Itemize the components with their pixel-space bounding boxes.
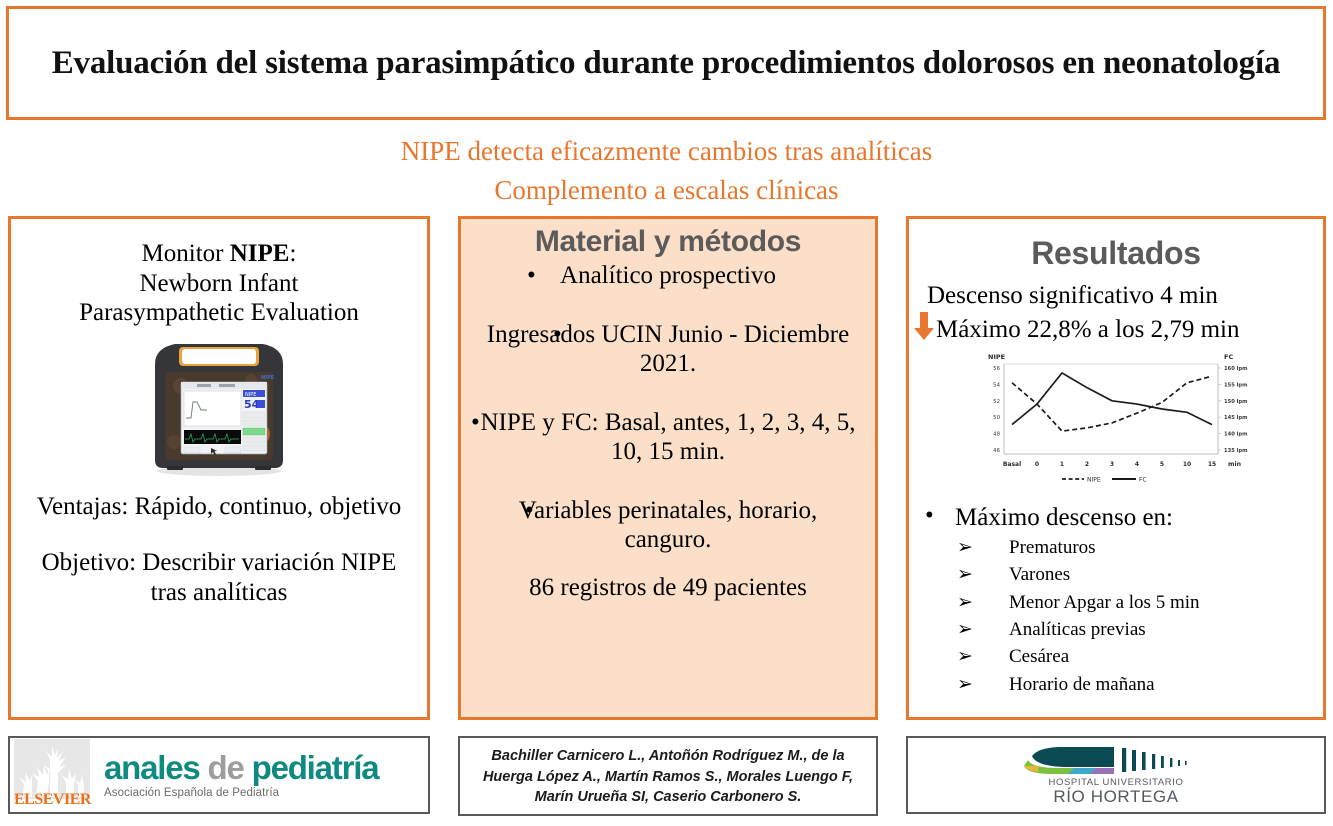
bullet-glyph: • <box>525 496 534 525</box>
list-item: • NIPE y FC: Basal, antes, 1, 2, 3, 4, 5… <box>461 408 875 466</box>
footer-journal-logos: ELSEVIER anales de pediatría Asociación … <box>8 736 430 814</box>
chart-series-nipe <box>1012 376 1212 431</box>
chart-legend-label-fc: FC <box>1139 477 1147 484</box>
list-item: ➢ Prematuros <box>909 534 1323 561</box>
list-item-label: Menor Apgar a los 5 min <box>1009 592 1200 613</box>
result-line-2: Máximo 22,8% a los 2,79 min <box>936 316 1239 343</box>
subtitle-block: NIPE detecta eficazmente cambios tras an… <box>0 132 1333 210</box>
list-item-label: Prematuros <box>1009 537 1096 558</box>
arrowhead-bullet-icon: ➢ <box>957 589 973 616</box>
svg-text:140 lpm: 140 lpm <box>1224 432 1248 438</box>
arrow-down-svg <box>913 311 935 341</box>
arrowhead-bullet-icon: ➢ <box>957 616 973 643</box>
footer-hospital-logo: HOSPITAL UNIVERSITARIO RÍO HORTEGA <box>906 736 1326 814</box>
monitor-title-bold: NIPE <box>230 240 290 267</box>
svg-text:145 lpm: 145 lpm <box>1224 415 1248 421</box>
chart-x-tick-labels: Basal0123451015 <box>1003 461 1216 468</box>
arrowhead-bullet-icon: ➢ <box>957 561 973 588</box>
svg-text:3: 3 <box>1110 461 1114 468</box>
page-title: Evaluación del sistema parasimpático dur… <box>30 44 1303 82</box>
subtitle-line-1: NIPE detecta eficazmente cambios tras an… <box>0 132 1333 171</box>
list-item: ➢ Menor Apgar a los 5 min <box>909 589 1323 616</box>
svg-text:0: 0 <box>1035 461 1039 468</box>
svg-text:2: 2 <box>1085 461 1089 468</box>
material-methods-heading: Material y métodos <box>461 225 875 259</box>
svg-text:54: 54 <box>993 382 1000 388</box>
title-box: Evaluación del sistema parasimpático dur… <box>6 6 1326 120</box>
list-item: • Analítico prospectivo <box>461 261 875 290</box>
chart-series-fc <box>1012 373 1212 425</box>
bullet-glyph: • <box>925 502 934 530</box>
nipe-monitor-svg: NIPE 54 <box>141 338 297 478</box>
arrowhead-bullet-icon: ➢ <box>957 671 973 698</box>
material-methods-list: • Analítico prospectivo • Ingresados UCI… <box>461 261 875 554</box>
anales-subtitle: Asociación Española de Pediatría <box>104 787 378 799</box>
monitor-title-suffix: : <box>289 240 296 267</box>
anales-word-1: anales <box>104 749 200 786</box>
hospital-logo: HOSPITAL UNIVERSITARIO RÍO HORTEGA <box>908 738 1324 812</box>
elsevier-logo: ELSEVIER <box>14 739 90 811</box>
rio-hortega-logo-icon <box>1018 744 1214 776</box>
list-item-label: Analíticas previas <box>1009 619 1146 640</box>
elsevier-wordmark: ELSEVIER <box>14 791 90 809</box>
svg-text:46: 46 <box>993 448 1000 454</box>
objective-text: Objetivo: Describir variación NIPE tras … <box>11 548 427 608</box>
list-item-label: Variables perinatales, horario, canguro. <box>519 497 818 553</box>
svg-text:Basal: Basal <box>1003 461 1021 468</box>
registros-footnote: 86 registros de 49 pacientes <box>461 574 875 602</box>
arrowhead-bullet-icon: ➢ <box>957 643 973 670</box>
svg-text:160 lpm: 160 lpm <box>1224 366 1248 372</box>
nipe-fc-chart-svg: NIPE FC 565452504846 160 lpm155 lpm150 l… <box>966 350 1266 498</box>
resultados-heading: Resultados <box>909 235 1323 272</box>
bullet-glyph: • <box>527 261 536 290</box>
bullet-glyph: • <box>553 320 562 349</box>
arrow-down-icon <box>913 311 935 349</box>
anales-logo: anales de pediatría Asociación Española … <box>104 751 378 799</box>
footer-authors: Bachiller Carnicero L., Antoñón Rodrígue… <box>458 736 878 816</box>
svg-text:48: 48 <box>993 432 1000 438</box>
svg-text:4: 4 <box>1135 461 1139 468</box>
svg-text:52: 52 <box>993 399 1000 405</box>
list-item: • Ingresados UCIN Junio - Diciembre 2021… <box>461 320 875 378</box>
elsevier-tree-icon <box>14 739 90 799</box>
nipe-fc-chart: NIPE FC 565452504846 160 lpm155 lpm150 l… <box>909 350 1323 498</box>
list-item: ➢ Cesárea <box>909 643 1323 670</box>
list-item: ➢ Varones <box>909 561 1323 588</box>
chart-legend-label-nipe: NIPE <box>1087 477 1101 484</box>
svg-text:135 lpm: 135 lpm <box>1224 448 1248 454</box>
list-item-label: Ingresados UCIN Junio - Diciembre 2021. <box>487 321 849 377</box>
max-descenso-bullet: • Máximo descenso en: <box>909 504 1323 532</box>
journal-logo-row: ELSEVIER anales de pediatría Asociación … <box>10 738 428 812</box>
anales-word-2: de <box>208 749 244 786</box>
monitor-image-wrap: NIPE 54 <box>11 338 427 478</box>
authors-list: Bachiller Carnicero L., Antoñón Rodrígue… <box>460 738 876 808</box>
list-item: ➢ Analíticas previas <box>909 616 1323 643</box>
result-line-1: Descenso significativo 4 min <box>909 282 1323 311</box>
panel-material-y-metodos: Material y métodos • Analítico prospecti… <box>458 216 878 720</box>
svg-text:50: 50 <box>993 415 1000 421</box>
monitor-title: Monitor NIPE: Newborn Infant Parasympath… <box>11 239 427 328</box>
list-item-label: Varones <box>1009 564 1070 585</box>
bullet-glyph: • <box>471 408 480 437</box>
arrowhead-bullet-icon: ➢ <box>957 534 973 561</box>
subtitle-line-2: Complemento a escalas clínicas <box>0 171 1333 210</box>
anales-word-3: pediatría <box>252 749 379 786</box>
advantages-text: Ventajas: Rápido, continuo, objetivo <box>11 492 427 522</box>
list-item-label: NIPE y FC: Basal, antes, 1, 2, 3, 4, 5, … <box>481 409 856 465</box>
graphical-abstract-poster: Evaluación del sistema parasimpático dur… <box>0 0 1333 826</box>
svg-text:15: 15 <box>1208 461 1216 468</box>
hospital-line-2: RÍO HORTEGA <box>1053 788 1178 806</box>
svg-text:155 lpm: 155 lpm <box>1224 382 1248 388</box>
svg-text:NIPE: NIPE <box>261 375 275 381</box>
rio-hortega-mark-svg <box>1018 744 1214 776</box>
anales-wordmark: anales de pediatría <box>104 751 378 784</box>
list-item: ➢ Horario de mañana <box>909 671 1323 698</box>
svg-text:1: 1 <box>1060 461 1064 468</box>
chart-x-axis-title: min <box>1228 461 1241 468</box>
svg-text:56: 56 <box>993 366 1000 372</box>
svg-text:10: 10 <box>1183 461 1191 468</box>
chart-y-axis-title: NIPE <box>988 353 1005 361</box>
nipe-monitor-device-icon: NIPE 54 <box>141 338 297 478</box>
list-item-label: Analítico prospectivo <box>560 262 776 289</box>
panels-row: Monitor NIPE: Newborn Infant Parasympath… <box>0 216 1333 720</box>
list-item-label: Horario de mañana <box>1009 674 1155 695</box>
monitor-expansion-line-1: Newborn Infant <box>140 270 299 297</box>
list-item-label: Cesárea <box>1009 646 1069 667</box>
monitor-expansion-line-2: Parasympathetic Evaluation <box>79 299 359 326</box>
factores-list: ➢ Prematuros ➢ Varones ➢ Menor Apgar a l… <box>909 534 1323 698</box>
panel-monitor-nipe: Monitor NIPE: Newborn Infant Parasympath… <box>8 216 430 720</box>
list-item: • Variables perinatales, horario, cangur… <box>461 496 875 554</box>
result-line-2-row: Máximo 22,8% a los 2,79 min <box>909 311 1323 349</box>
chart-y2-axis-title: FC <box>1224 353 1233 361</box>
svg-text:150 lpm: 150 lpm <box>1224 399 1248 405</box>
chart-legend: NIPE FC <box>1062 477 1147 484</box>
svg-text:5: 5 <box>1160 461 1164 468</box>
panel-resultados: Resultados Descenso significativo 4 min … <box>906 216 1326 720</box>
chart-right-tick-labels: 160 lpm155 lpm150 lpm145 lpm140 lpm135 l… <box>1218 366 1248 454</box>
monitor-title-prefix: Monitor <box>142 240 230 267</box>
chart-left-tick-labels: 565452504846 <box>993 366 1000 454</box>
max-descenso-label: Máximo descenso en: <box>955 504 1173 531</box>
